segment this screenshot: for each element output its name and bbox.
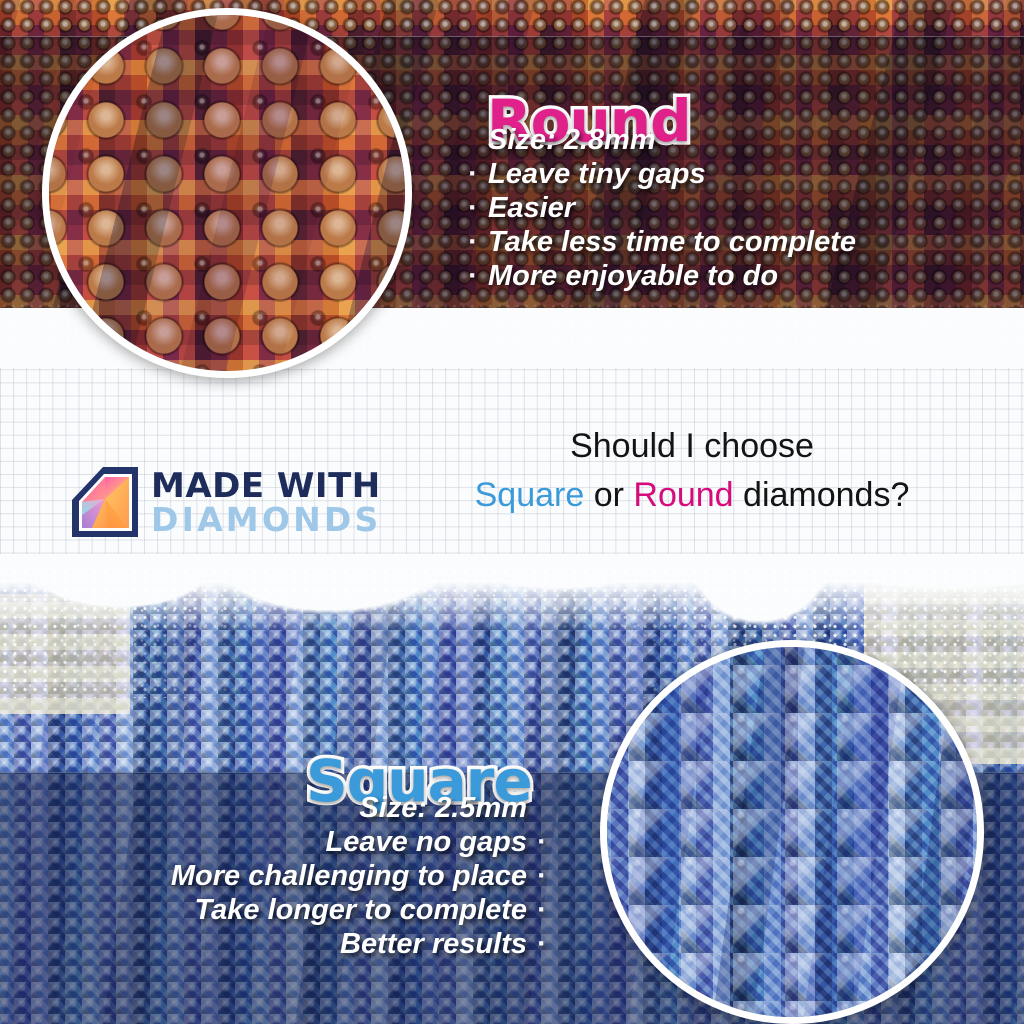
square-spec-row: Better results· bbox=[171, 928, 557, 962]
square-magnifier-lens bbox=[600, 640, 984, 1024]
square-spec-row: Take longer to complete· bbox=[171, 894, 557, 928]
round-spec-text: Take less time to complete bbox=[488, 226, 856, 260]
round-spec-list: Size: 2.8mm ·Leave tiny gaps ·Easier ·Ta… bbox=[458, 124, 856, 294]
round-magnifier-lens bbox=[42, 8, 412, 378]
square-spec-text: Leave no gaps bbox=[326, 826, 527, 860]
square-spec-row: Size: 2.5mm bbox=[171, 792, 557, 826]
square-spec-text: Better results bbox=[340, 928, 527, 962]
round-spec-row: ·More enjoyable to do bbox=[458, 260, 856, 294]
round-spec-text: Leave tiny gaps bbox=[488, 158, 706, 192]
square-lens-facets bbox=[600, 640, 984, 1024]
infographic-canvas: Round Size: 2.8mm ·Leave tiny gaps ·Easi… bbox=[0, 0, 1024, 1024]
square-spec-text: Take longer to complete bbox=[195, 894, 528, 928]
round-lens-highlights bbox=[42, 8, 412, 378]
round-spec-row: ·Easier bbox=[458, 192, 856, 226]
round-lens-texture bbox=[42, 8, 412, 378]
square-spec-row: More challenging to place· bbox=[171, 860, 557, 894]
keyword-square: Square bbox=[475, 476, 585, 514]
question-line-1: Should I choose bbox=[570, 427, 814, 465]
question-heading: Should I choose Square or Round diamonds… bbox=[412, 424, 972, 518]
bullet-icon: · bbox=[458, 158, 488, 192]
square-spec-list: Size: 2.5mm Leave no gaps· More challeng… bbox=[171, 792, 557, 962]
diamond-gem-icon bbox=[68, 465, 142, 541]
bullet-icon: · bbox=[458, 260, 488, 294]
square-spec-text: Size: 2.5mm bbox=[359, 792, 527, 826]
brand-logo[interactable]: MADE WITH DIAMONDS bbox=[68, 462, 388, 544]
square-spec-text: More challenging to place bbox=[171, 860, 527, 894]
bullet-icon: · bbox=[527, 928, 557, 962]
round-spec-text: Easier bbox=[488, 192, 575, 226]
round-spec-row: ·Leave tiny gaps bbox=[458, 158, 856, 192]
question-tail: diamonds? bbox=[734, 476, 910, 514]
square-spec-row: Leave no gaps· bbox=[171, 826, 557, 860]
bullet-icon: · bbox=[527, 894, 557, 928]
round-spec-text: More enjoyable to do bbox=[488, 260, 778, 294]
question-conjunction: or bbox=[584, 476, 633, 514]
bullet-icon: · bbox=[458, 192, 488, 226]
round-spec-row: ·Take less time to complete bbox=[458, 226, 856, 260]
bullet-icon: · bbox=[527, 826, 557, 860]
round-spec-row: Size: 2.8mm bbox=[458, 124, 856, 158]
brand-logo-text: MADE WITH DIAMONDS bbox=[151, 470, 381, 537]
square-lens-texture bbox=[600, 640, 984, 1024]
question-line-2: Square or Round diamonds? bbox=[412, 473, 972, 518]
round-spec-text: Size: 2.8mm bbox=[488, 124, 656, 158]
brand-line-made-with: MADE WITH bbox=[151, 470, 381, 503]
keyword-round: Round bbox=[633, 476, 733, 514]
brand-line-diamonds: DIAMONDS bbox=[151, 503, 381, 537]
bullet-icon: · bbox=[527, 860, 557, 894]
bullet-icon: · bbox=[458, 226, 488, 260]
